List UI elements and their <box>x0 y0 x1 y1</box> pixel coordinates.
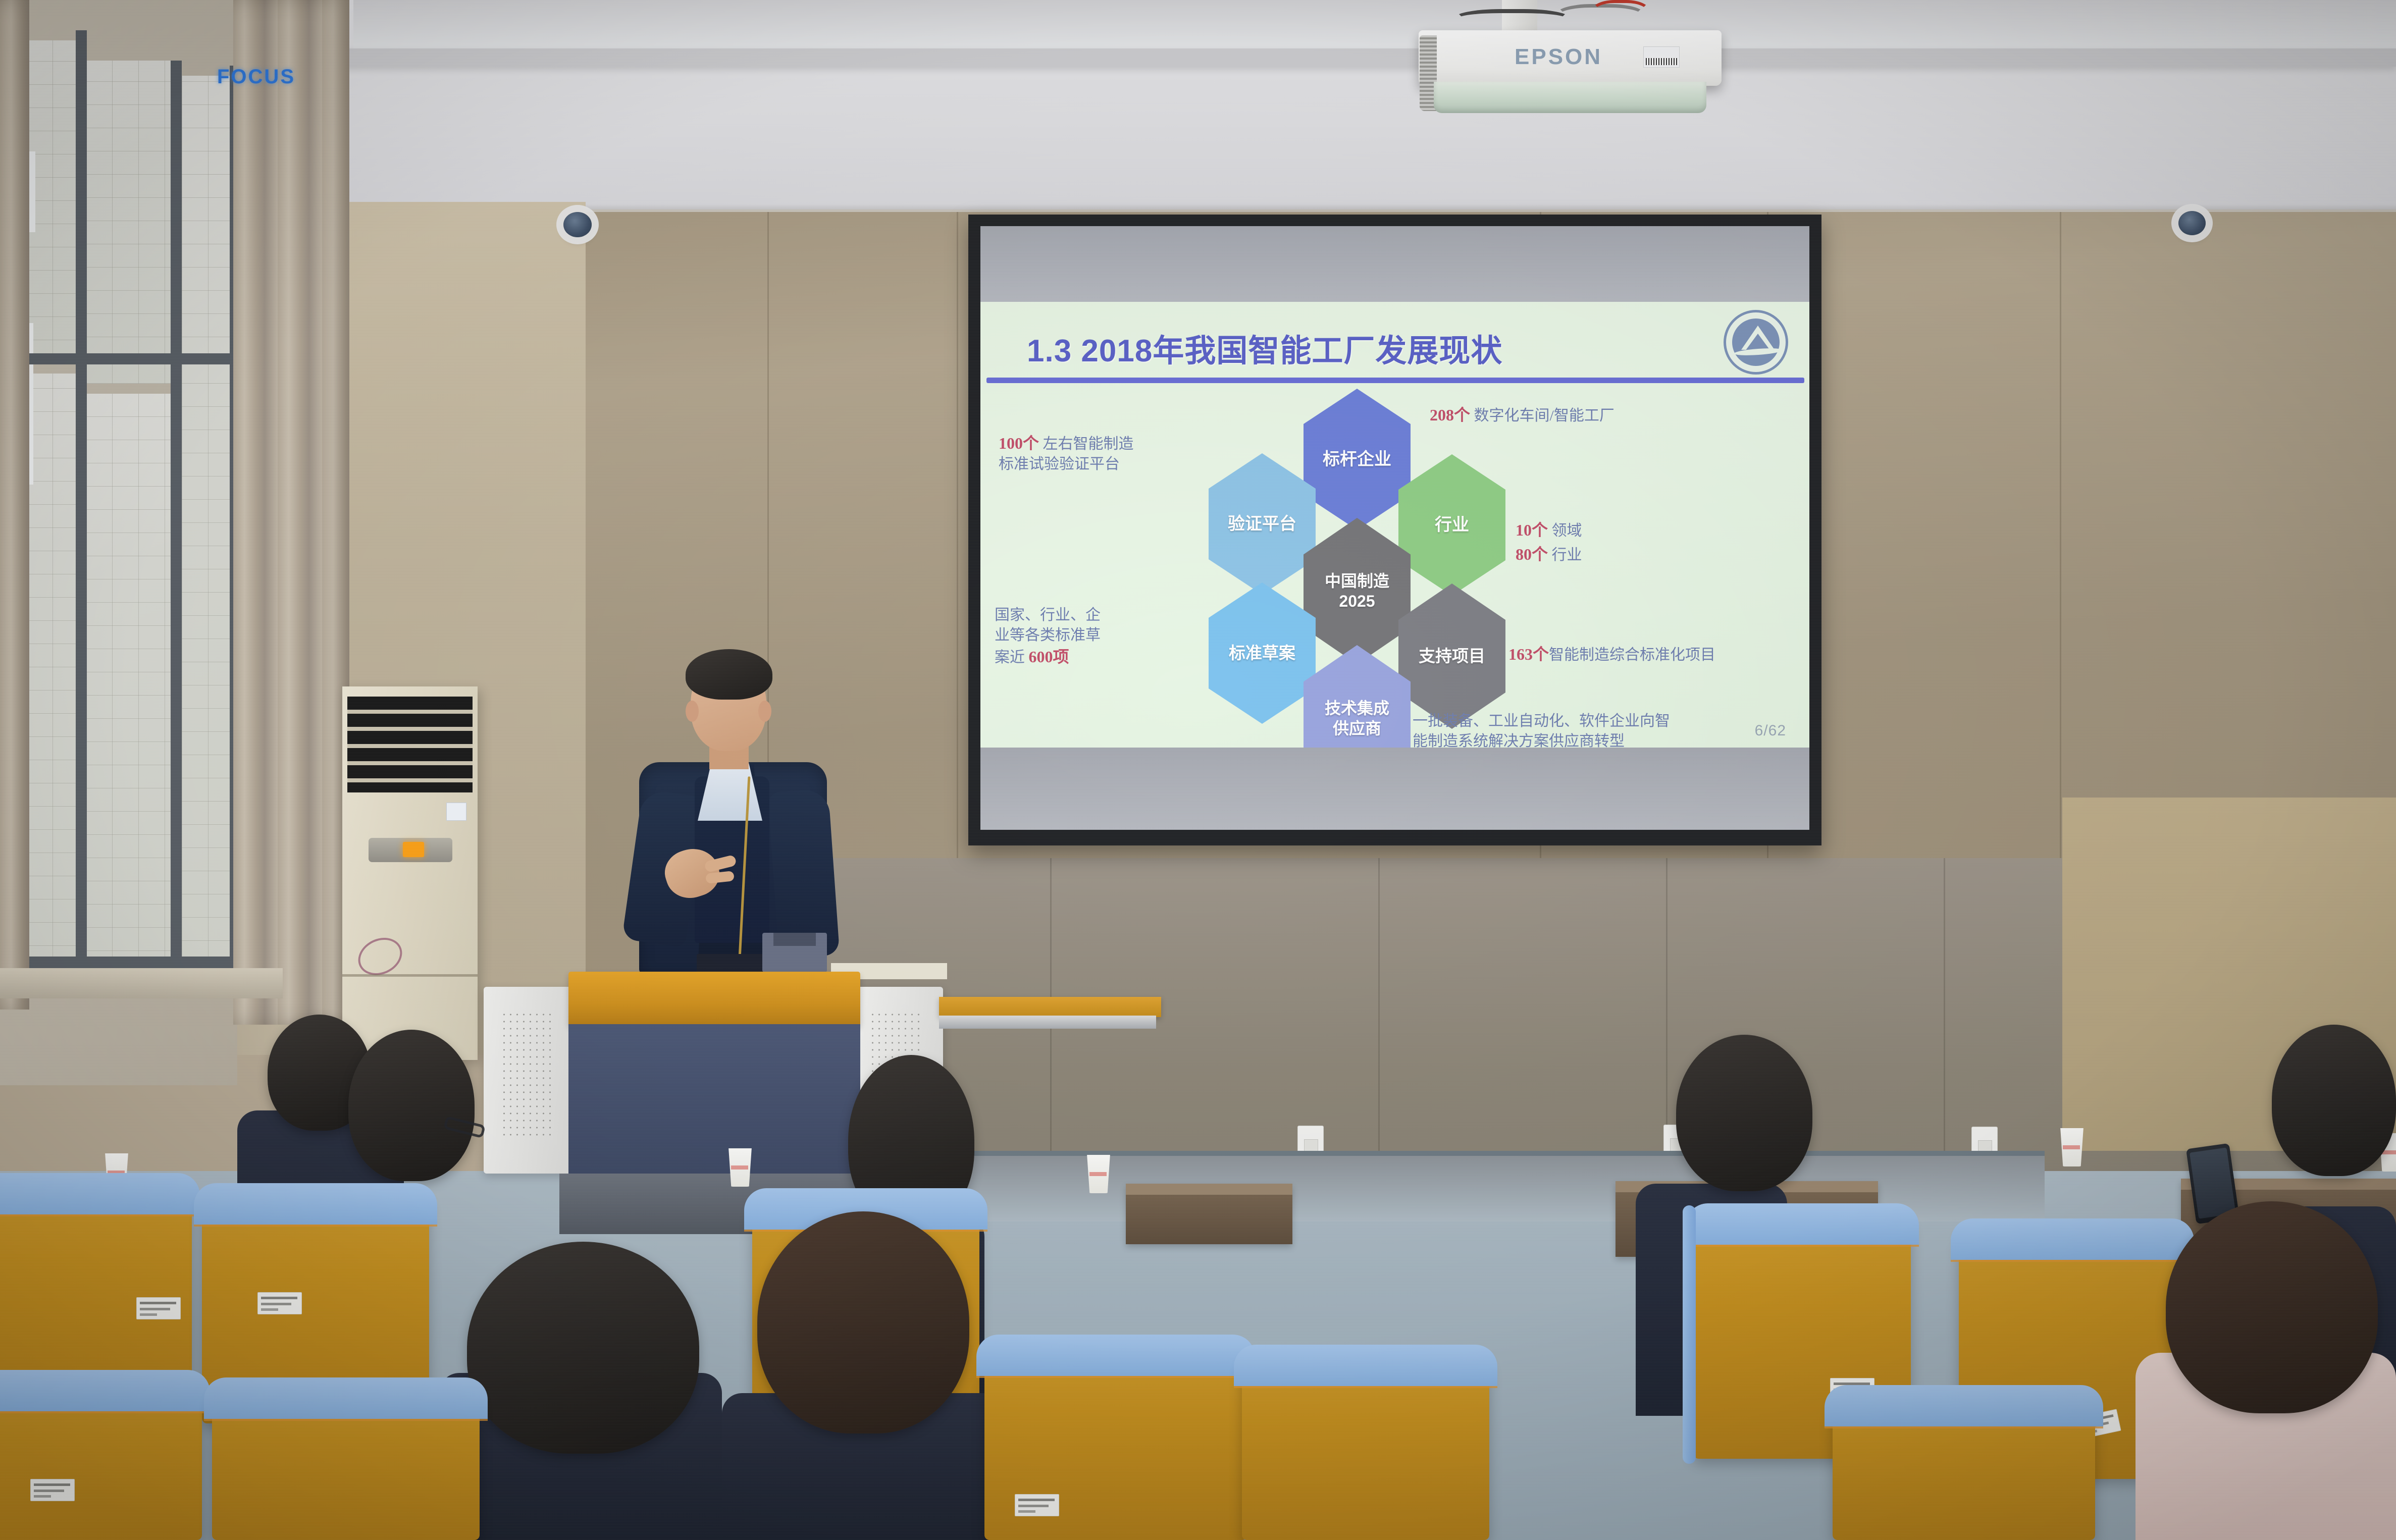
paper-cup <box>1085 1155 1112 1193</box>
presenter-hair <box>686 649 772 700</box>
attendee-head <box>467 1242 699 1454</box>
window-ledge <box>0 968 283 998</box>
auditorium-seat[interactable] <box>212 1386 480 1540</box>
slide-page-number: 6/62 <box>1755 722 1786 739</box>
seat-number-tag <box>1015 1494 1059 1516</box>
annotation-text: 行业 <box>1548 547 1582 563</box>
projector-brand-label: EPSON <box>1515 44 1602 70</box>
air-conditioner[interactable] <box>342 686 478 1060</box>
attendee-head <box>348 1030 475 1181</box>
rear-desk <box>1126 1184 1292 1244</box>
attendee-head <box>2272 1025 2396 1176</box>
dome-camera-icon <box>2178 211 2206 235</box>
projector-cable <box>1454 9 1570 32</box>
projector-asset-sticker <box>1643 46 1680 68</box>
university-logo-icon <box>1724 310 1788 375</box>
window-transom <box>0 353 237 364</box>
ac-louvers-icon <box>347 697 473 792</box>
annotation-80-industries: 80个 行业 <box>1516 523 1682 565</box>
projector-cable <box>1590 0 1651 31</box>
annotation-number: 100个 <box>999 434 1039 452</box>
side-table <box>939 997 1161 1017</box>
hexagon-benchmark: 标杆企业 <box>1304 389 1411 530</box>
attendee-head <box>2166 1201 2378 1413</box>
hexagon-industry: 行业 <box>1398 454 1505 596</box>
annotation-number: 208个 <box>1430 406 1470 424</box>
window-pane <box>86 394 174 974</box>
slide: 1.3 2018年我国智能工厂发展现状 标杆企业 验证平台 行业 中国制造 20… <box>980 302 1809 748</box>
ac-display <box>403 842 424 857</box>
annotation-text: 数字化车间/智能工厂 <box>1470 407 1614 424</box>
presenter-ear <box>686 701 699 722</box>
slide-title-rule <box>986 378 1804 383</box>
window-pane <box>182 76 237 964</box>
annotation-100-platforms: 100个 左右智能制造 标准试验验证平台 <box>999 412 1201 475</box>
seat-number-tag <box>30 1479 75 1501</box>
hexagon-platform: 验证平台 <box>1209 453 1316 595</box>
annotation-text: 一批装备、工业自动化、软件企业向智 能制造系统解决方案供应商转型 <box>1413 713 1670 748</box>
screen-letterbox-bottom <box>980 748 1809 830</box>
paper-cup <box>2059 1128 2085 1166</box>
seat-number-tag <box>136 1297 181 1319</box>
ac-control-panel[interactable] <box>369 838 452 862</box>
lectern-body <box>568 1024 860 1174</box>
annotation-text: 智能制造综合标准化项目 <box>1549 647 1715 663</box>
window-pane <box>86 61 174 384</box>
window-curtain <box>0 0 29 1010</box>
window-mullion <box>76 30 87 979</box>
ac-panel-seam <box>342 974 478 977</box>
auditorium-seat[interactable] <box>1242 1353 1489 1540</box>
attendee-head <box>757 1211 969 1433</box>
lecture-hall-scene: EPSON 1.3 2018年我国智能工厂发展现状 标杆企业 验证平台 行业 <box>0 0 2396 1540</box>
annotation-number: 80个 <box>1516 545 1548 563</box>
projector: EPSON <box>1419 30 1722 86</box>
hexagon-core-china-manufacturing-2025: 中国制造 2025 <box>1304 518 1411 664</box>
lectern-brand-label: FOCUS <box>217 66 295 88</box>
annotation-supplier-transformation: 一批装备、工业自动化、软件企业向智 能制造系统解决方案供应商转型 <box>1413 691 1761 748</box>
annotation-number: 600项 <box>1029 648 1069 666</box>
window-curtain <box>233 0 349 1025</box>
ac-badge-sticker <box>446 803 466 821</box>
paper-cup <box>727 1148 753 1187</box>
screen-letterbox-top <box>980 226 1809 302</box>
auditorium-seat[interactable] <box>984 1343 1247 1540</box>
lectern-left-speaker <box>484 987 575 1174</box>
lectern-worktop <box>568 972 860 1025</box>
auditorium-seat[interactable] <box>0 1378 202 1540</box>
slide-title: 1.3 2018年我国智能工厂发展现状 <box>1027 325 1502 370</box>
projector-lens <box>1434 82 1706 113</box>
side-table-slide-rail <box>939 1016 1156 1029</box>
auditorium-seat[interactable] <box>1833 1393 2095 1540</box>
speaker-grille-icon <box>501 1011 555 1137</box>
lectern-document-holder <box>762 933 827 972</box>
hexagon-standard-draft: 标准草案 <box>1209 582 1316 724</box>
annotation-163-projects: 163个智能制造综合标准化项目 <box>1508 623 1809 665</box>
annotation-number: 163个 <box>1508 645 1549 663</box>
annotation-208-digital-workshops: 208个 数字化车间/智能工厂 <box>1430 384 1753 426</box>
seat-number-tag <box>257 1292 302 1314</box>
annotation-600-standards: 国家、行业、企 业等各类标准草 案近 600项 <box>995 585 1196 668</box>
window-mullion <box>171 61 182 979</box>
dome-camera-icon <box>563 212 592 237</box>
presenter-ear <box>758 701 771 722</box>
attendee-head <box>1676 1035 1812 1191</box>
hexagon-technology-integrator: 技术集成 供应商 <box>1304 645 1411 748</box>
projection-screen: 1.3 2018年我国智能工厂发展现状 标杆企业 验证平台 行业 中国制造 20… <box>980 226 1809 830</box>
ceiling-soffit <box>232 48 2396 67</box>
